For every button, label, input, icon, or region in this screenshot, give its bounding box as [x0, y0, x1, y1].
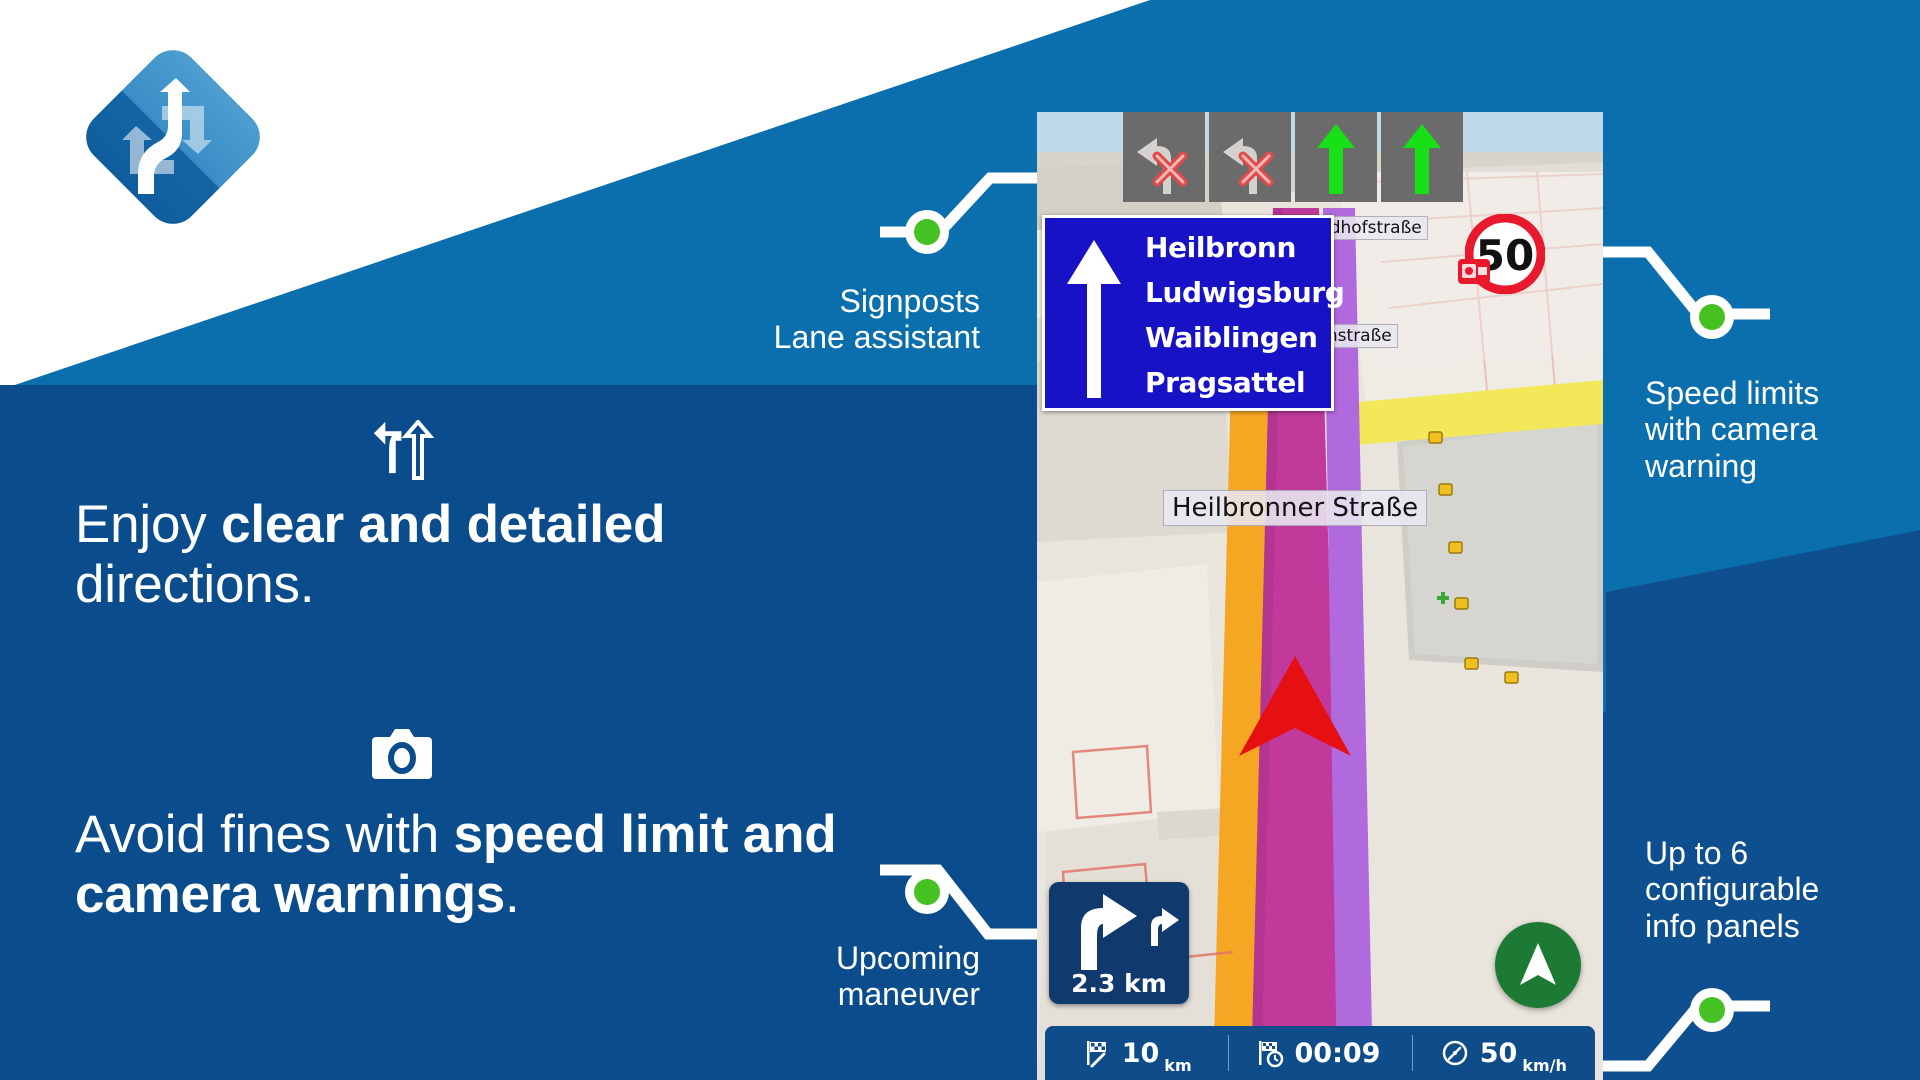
green-dot-marker	[914, 219, 940, 245]
signpost-cities: Heilbronn Ludwigsburg Waiblingen Pragsat…	[1145, 225, 1325, 405]
callout-signposts-line1: Signposts	[660, 283, 980, 319]
green-dot-marker	[1699, 997, 1725, 1023]
phone-screen: Heilbronn Ludwigsburg Waiblingen Pragsat…	[1037, 112, 1603, 1080]
lane-cell-2	[1209, 112, 1291, 202]
callout-maneuver-line2: maneuver	[660, 976, 980, 1012]
compass-arrow-icon	[1508, 935, 1568, 995]
callout-infopanels-line2: configurable	[1645, 871, 1920, 907]
turn-right-arrow-icon	[1059, 888, 1143, 972]
promo-screenshot: Enjoy clear and detailed directions. Avo…	[0, 0, 1920, 1080]
signpost-city-2: Ludwigsburg	[1145, 270, 1325, 315]
lane-cell-3	[1295, 112, 1377, 202]
callout-speed-line2: with camera	[1645, 411, 1920, 447]
info-distance-unit: km	[1164, 1056, 1191, 1080]
callout-infopanels: Up to 6 configurable info panels	[1645, 835, 1920, 944]
camera-icon	[370, 725, 434, 781]
signpost-city-1: Heilbronn	[1145, 225, 1325, 270]
callout-signposts-line2: Lane assistant	[660, 319, 980, 355]
signpost-city-3: Waiblingen	[1145, 315, 1325, 360]
compass-button[interactable]	[1495, 922, 1581, 1008]
feature-1-headline: Enjoy clear and detailed directions.	[75, 495, 855, 615]
red-vehicle-arrow-icon	[1233, 652, 1357, 762]
feature-2-text-a: Avoid fines with	[75, 805, 454, 864]
marker-infopanels[interactable]	[1690, 988, 1734, 1032]
info-panel-bar: 10 km 00:09	[1045, 1026, 1595, 1080]
callout-maneuver-line1: Upcoming	[660, 940, 980, 976]
speed-limit-sign: 50	[1465, 214, 1545, 294]
callout-maneuver: Upcoming maneuver	[660, 940, 980, 1013]
callout-speed-line3: warning	[1645, 448, 1920, 484]
marker-speed[interactable]	[1690, 295, 1734, 339]
flag-clock-icon	[1255, 1038, 1285, 1068]
app-logo	[78, 42, 268, 232]
info-speed-unit: km/h	[1522, 1056, 1567, 1080]
street-label-heilbronner-strasse: Heilbronner Straße	[1163, 490, 1427, 526]
straight-arrow-icon	[1061, 232, 1127, 400]
info-speed-value: 50	[1480, 1038, 1518, 1069]
callout-infopanels-line1: Up to 6	[1645, 835, 1920, 871]
lane-assistant-bar	[1037, 112, 1603, 202]
callout-infopanels-line3: info panels	[1645, 908, 1920, 944]
feature-2-headline: Avoid fines with speed limit and camera …	[75, 805, 855, 925]
info-panel-speed[interactable]: 50 km/h	[1412, 1026, 1595, 1080]
speedometer-icon	[1440, 1038, 1470, 1068]
map-canvas[interactable]: Heilbronn Ludwigsburg Waiblingen Pragsat…	[1037, 112, 1603, 1080]
info-panel-distance[interactable]: 10 km	[1045, 1026, 1228, 1080]
lane-assistant-icon	[370, 420, 434, 480]
info-distance-value: 10	[1122, 1038, 1160, 1069]
speed-camera-icon	[1457, 256, 1491, 286]
marker-maneuver[interactable]	[905, 870, 949, 914]
maneuver-distance: 2.3 km	[1049, 969, 1189, 998]
feature-1-text-a: Enjoy	[75, 495, 221, 554]
flag-distance-icon	[1082, 1038, 1112, 1068]
leader-line-speed	[1600, 242, 1770, 332]
callout-speed: Speed limits with camera warning	[1645, 375, 1920, 484]
maneuver-panel: 2.3 km	[1049, 882, 1189, 1004]
info-time-value: 00:09	[1295, 1038, 1381, 1069]
leader-line-infopanels	[1600, 988, 1770, 1078]
turn-right-small-arrow-icon	[1141, 902, 1181, 948]
callout-speed-line1: Speed limits	[1645, 375, 1920, 411]
marker-signposts[interactable]	[905, 210, 949, 254]
green-dot-marker	[1699, 304, 1725, 330]
feature-1-text-b: directions.	[75, 555, 314, 614]
info-panel-time[interactable]: 00:09	[1228, 1026, 1411, 1080]
callout-signposts: Signposts Lane assistant	[660, 283, 980, 356]
feature-2-text-b: .	[505, 865, 520, 924]
lane-cell-1	[1123, 112, 1205, 202]
signpost-panel: Heilbronn Ludwigsburg Waiblingen Pragsat…	[1042, 215, 1334, 411]
green-dot-marker	[914, 879, 940, 905]
lane-cell-4	[1381, 112, 1463, 202]
feature-1-text-bold: clear and detailed	[221, 495, 665, 554]
signpost-city-4: Pragsattel	[1145, 360, 1325, 405]
